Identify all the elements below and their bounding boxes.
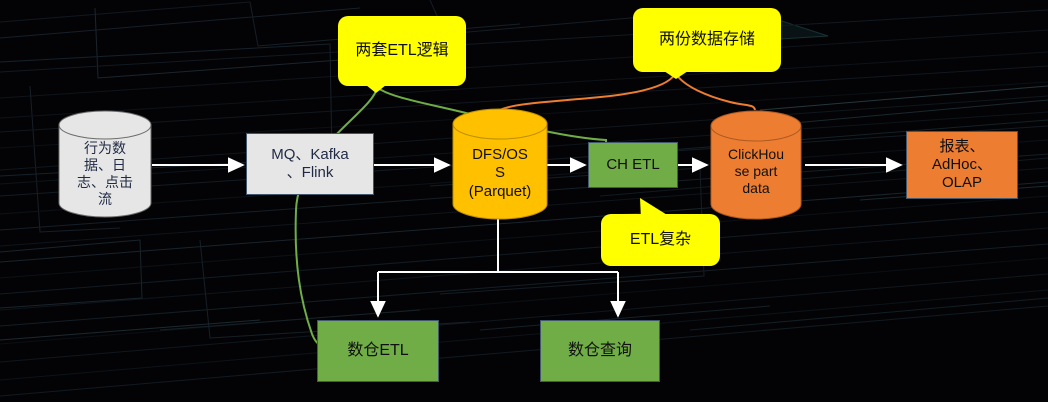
node-dfs-label: DFS/OS S (Parquet) bbox=[452, 146, 548, 201]
node-ch-etl-label: CH ETL bbox=[606, 156, 659, 174]
node-mq-label: MQ、Kafka 、Flink bbox=[271, 146, 349, 183]
callout-etl-complex-label: ETL复杂 bbox=[630, 230, 691, 250]
node-ch-etl-box[interactable]: CH ETL bbox=[588, 142, 678, 188]
node-clickhouse-cylinder[interactable]: ClickHou se part data bbox=[710, 110, 802, 220]
callout-two-data-storage-tail bbox=[664, 71, 688, 79]
node-warehouse-query-box[interactable]: 数仓查询 bbox=[540, 320, 660, 382]
node-clickhouse-label: ClickHou se part data bbox=[710, 146, 802, 197]
callout-two-etl-logic[interactable]: 两套ETL逻辑 bbox=[338, 16, 466, 86]
node-report-label: 报表、 AdHoc、 OLAP bbox=[932, 138, 992, 193]
node-report-box[interactable]: 报表、 AdHoc、 OLAP bbox=[906, 131, 1018, 199]
node-source-label: 行为数 据、日 志、点击 流 bbox=[58, 140, 152, 208]
node-dfs-cylinder[interactable]: DFS/OS S (Parquet) bbox=[452, 108, 548, 220]
node-warehouse-query-label: 数仓查询 bbox=[568, 341, 632, 361]
callout-two-etl-logic-tail bbox=[366, 85, 386, 93]
diagram-canvas: 行为数 据、日 志、点击 流 MQ、Kafka 、Flink DFS/OS S … bbox=[0, 0, 1048, 402]
node-warehouse-etl-label: 数仓ETL bbox=[347, 341, 408, 361]
callout-etl-complex[interactable]: ETL复杂 bbox=[601, 214, 720, 266]
node-mq-box[interactable]: MQ、Kafka 、Flink bbox=[246, 133, 374, 195]
node-source-cylinder[interactable]: 行为数 据、日 志、点击 流 bbox=[58, 110, 152, 218]
callout-two-etl-logic-label: 两套ETL逻辑 bbox=[355, 41, 448, 61]
callout-two-data-storage[interactable]: 两份数据存储 bbox=[633, 8, 781, 72]
green-curve-to-warehouse-etl bbox=[296, 88, 377, 346]
orange-curve-to-clickhouse bbox=[676, 74, 755, 110]
node-warehouse-etl-box[interactable]: 数仓ETL bbox=[317, 320, 439, 382]
callout-two-data-storage-label: 两份数据存储 bbox=[659, 30, 755, 50]
orange-curve-to-dfs bbox=[500, 74, 675, 110]
